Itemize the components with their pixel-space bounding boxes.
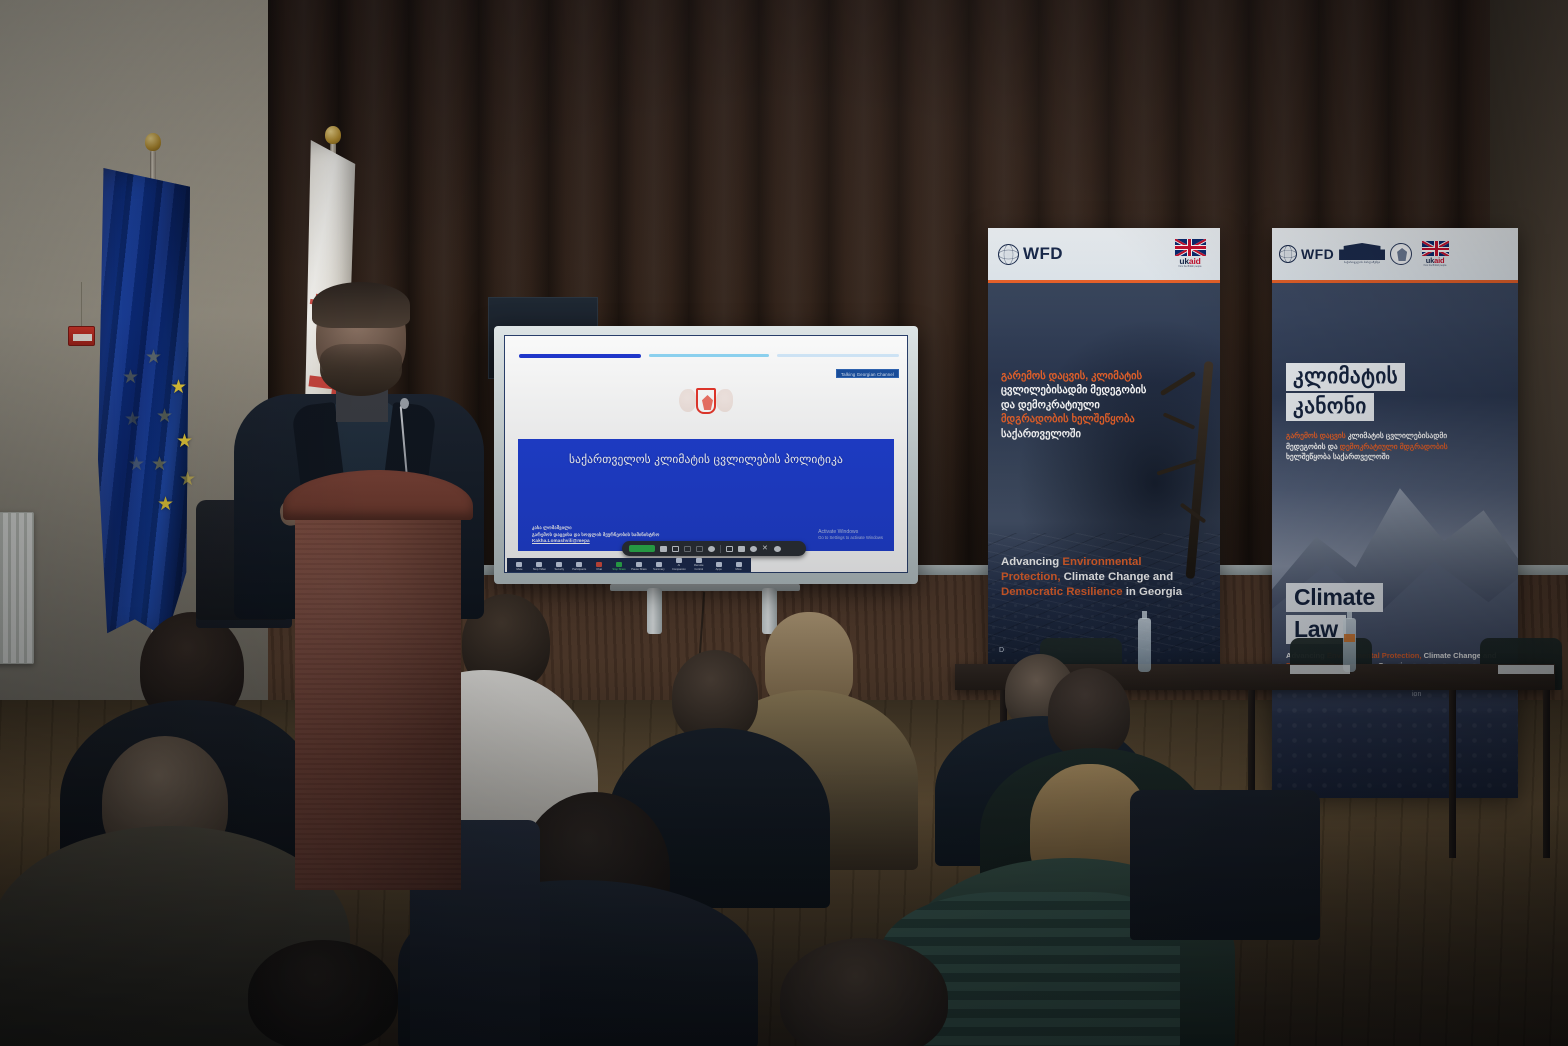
zoom-annotation-toolbar[interactable]: ✕ xyxy=(622,541,806,556)
close-icon[interactable]: ✕ xyxy=(762,546,769,552)
annotation-active-indicator xyxy=(629,545,655,552)
eu-star-icon: ★ xyxy=(151,455,168,474)
parliament-logo-caption: საქართველოს პარლამენტი xyxy=(1339,261,1385,265)
name-card xyxy=(1290,665,1350,674)
water-bottle[interactable] xyxy=(1343,618,1356,672)
wfd-globe-icon xyxy=(998,244,1019,265)
union-jack-icon xyxy=(1175,239,1206,256)
tree-branch xyxy=(1156,458,1199,475)
rollup-banner-right: კლიმატის კანონი გარემოს დაცვის კლიმატის … xyxy=(1272,228,1518,798)
podium-lectern-top xyxy=(283,470,473,520)
ukaid-tagline: from the British people xyxy=(1417,265,1453,268)
slide-title-panel: საქართველოს კლიმატის ცვლილების პოლიტიკა … xyxy=(518,439,894,551)
meeting-name-chip[interactable]: Talking Georgian Channel xyxy=(836,369,899,378)
zoom-control-participants[interactable]: Participants xyxy=(571,562,588,571)
zoom-meeting-toolbar[interactable]: Mute Stop Video Security Participants Ch… xyxy=(507,558,751,572)
banner-left-footer: D xyxy=(999,647,1004,654)
eu-star-icon: ★ xyxy=(176,432,193,451)
microphone-icon[interactable] xyxy=(400,398,409,409)
eu-star-icon: ★ xyxy=(122,368,139,387)
ukaid-wordmark: ukaid xyxy=(1417,256,1453,265)
eu-star-icon: ★ xyxy=(156,407,173,426)
government-seal-icon xyxy=(1390,243,1412,265)
eu-star-icon: ★ xyxy=(124,410,141,429)
zoom-control-remote-control[interactable]: Remote Control xyxy=(690,558,707,571)
wfd-globe-icon xyxy=(1279,245,1297,263)
progress-bar-active xyxy=(519,354,641,358)
alarm-wire xyxy=(81,282,82,328)
wfd-wordmark: WFD xyxy=(1301,246,1334,262)
more-icon[interactable] xyxy=(774,546,781,552)
government-seal-logo xyxy=(1390,243,1412,265)
coat-lion-right-icon xyxy=(716,389,733,412)
audience-head xyxy=(1048,668,1130,758)
presenter-name: კახა ლომაშვილი xyxy=(532,525,659,532)
ukaid-wordmark: ukaid xyxy=(1170,256,1210,266)
eu-flag-folds xyxy=(98,168,190,638)
banner-left-logo-bar: WFD ukaid from the British people xyxy=(988,228,1220,280)
ukaid-logo: ukaid from the British people xyxy=(1417,241,1453,268)
eu-flag-finial xyxy=(145,133,161,151)
parliament-of-georgia-logo: საქართველოს პარლამენტი xyxy=(1339,243,1385,265)
sub-ka-5: ხელშეწყობა საქართველოში xyxy=(1286,452,1390,461)
progress-bar-next xyxy=(649,354,769,357)
banner-right-title-en-1: Climate xyxy=(1294,584,1375,610)
slide-progress-bars xyxy=(519,354,895,358)
presenter-beard xyxy=(320,344,402,396)
heading-line-5: საქართველოში xyxy=(1001,428,1081,440)
new-slide-icon[interactable] xyxy=(726,546,733,552)
ukaid-logo: ukaid from the British people xyxy=(1170,239,1210,269)
banner-right-footer: ion xyxy=(1412,691,1421,698)
subtitle-part-5: in Georgia xyxy=(1123,586,1183,598)
eu-star-icon: ★ xyxy=(157,495,174,514)
georgia-flag-finial xyxy=(325,126,341,144)
zoom-control-security[interactable]: Security xyxy=(551,562,568,571)
sub-ka-2: კლიმატის ცვლილებისადმი xyxy=(1348,431,1447,440)
eu-star-icon: ★ xyxy=(179,470,196,489)
undo-icon[interactable] xyxy=(684,546,691,552)
save-icon[interactable] xyxy=(738,546,745,552)
presenter-hair xyxy=(312,282,410,328)
zoom-control-summary[interactable]: Summary xyxy=(650,562,667,571)
banner-right-logo-bar: WFD საქართველოს პარლამენტი ukaid from th… xyxy=(1272,228,1518,280)
slide-title: საქართველოს კლიმატის ცვლილების პოლიტიკა xyxy=(518,453,894,466)
progress-bar-last xyxy=(777,354,899,357)
eu-star-icon: ★ xyxy=(170,378,187,397)
eu-star-icon: ★ xyxy=(128,455,145,474)
heading-line-2: ცვლილებისადმი მედეგობის xyxy=(1001,384,1146,396)
rollup-banner-left: გარემოს დაცვის, კლიმატის ცვლილებისადმი მ… xyxy=(988,228,1220,668)
sub-ka-1: გარემოს დაცვის xyxy=(1286,431,1348,440)
coat-shield-icon xyxy=(696,388,716,414)
draw-icon[interactable] xyxy=(672,546,679,552)
banner-left-heading-ka: გარემოს დაცვის, კლიმატის ცვლილებისადმი მ… xyxy=(1001,369,1210,441)
banner-left-accent-rule xyxy=(988,280,1220,283)
zoom-control-pause-share[interactable]: Pause Share xyxy=(631,562,648,571)
subtitle-part-4: Democratic Resilience xyxy=(1001,586,1123,598)
heading-line-3: და დემოკრატიული xyxy=(1001,399,1100,411)
union-jack-icon xyxy=(1422,241,1449,256)
water-bottle[interactable] xyxy=(1138,618,1151,672)
wall-radiator xyxy=(0,512,34,664)
zoom-control-stop-video[interactable]: Stop Video xyxy=(531,562,548,571)
audience-chair[interactable] xyxy=(1130,790,1320,940)
podium xyxy=(283,470,473,890)
toolbar-separator xyxy=(720,545,721,553)
zoom-control-mute[interactable]: Mute xyxy=(511,562,528,571)
presentation-display: Talking Georgian Channel საქართველოს კლი… xyxy=(494,326,918,584)
ukaid-tagline: from the British people xyxy=(1170,266,1210,269)
zoom-control-more[interactable]: More xyxy=(730,562,747,571)
watermark-line-2: Go to Settings to activate Windows xyxy=(818,535,883,541)
select-icon[interactable] xyxy=(660,546,667,552)
banner-left-subtitle-en: Advancing Environmental Protection, Clim… xyxy=(1001,555,1202,600)
banner-right-title-ka-1: კლიმატის xyxy=(1293,365,1398,388)
slide-screen[interactable]: Talking Georgian Channel საქართველოს კლი… xyxy=(504,335,908,573)
zoom-control-stop-share[interactable]: Stop Share xyxy=(611,562,628,571)
subtitle-part-1: Advancing xyxy=(1001,556,1062,568)
podium-texture xyxy=(295,514,461,890)
name-card xyxy=(1498,665,1554,674)
wfd-logo: WFD xyxy=(998,244,1063,265)
banner-right-title-ka-2: კანონი xyxy=(1293,395,1367,418)
zoom-control-apps[interactable]: Apps xyxy=(710,562,727,571)
fire-alarm-icon[interactable] xyxy=(68,326,95,346)
windows-activation-watermark: Activate Windows Go to Settings to activ… xyxy=(818,529,883,541)
parliament-building-icon xyxy=(1339,243,1385,260)
heading-line-1: გარემოს დაცვის, კლიმატის xyxy=(1001,370,1142,382)
table-leg xyxy=(1449,690,1456,858)
coat-lion-left-icon xyxy=(679,389,696,412)
heading-line-4: მდგრადობის ხელშეწყობა xyxy=(1001,413,1135,425)
audience-head xyxy=(248,940,398,1046)
redo-icon[interactable] xyxy=(696,546,703,552)
display-stand-leg xyxy=(647,588,662,634)
zoom-control-ai-companion[interactable]: AI Companion xyxy=(670,558,687,571)
wfd-wordmark: WFD xyxy=(1023,244,1063,264)
georgia-coat-of-arms-icon xyxy=(677,384,735,430)
audience-head xyxy=(780,938,948,1046)
banner-right-subtitle-ka: გარემოს დაცვის კლიმატის ცვლილებისადმი მე… xyxy=(1286,431,1506,463)
subtitle-part-3: Climate Change and xyxy=(1061,571,1174,583)
eu-star-icon: ★ xyxy=(145,348,162,367)
banner-right-title-ka-box-1: კლიმატის xyxy=(1286,363,1405,391)
zoom-control-chat[interactable]: Chat xyxy=(591,562,608,571)
banner-right-accent-rule xyxy=(1272,280,1518,283)
table-leg xyxy=(1543,690,1550,858)
sub-ka-3: მედეგობის და xyxy=(1286,442,1340,451)
spotlight-icon[interactable] xyxy=(708,546,715,552)
presenter-org: გარემოს დაცვისა და სოფლის მეურნეობის სამ… xyxy=(532,532,659,539)
wfd-logo: WFD xyxy=(1279,245,1334,263)
banner-right-body: კლიმატის კანონი გარემოს დაცვის კლიმატის … xyxy=(1272,283,1518,798)
sub-ka-4: დემოკრატიული მდგრადობის xyxy=(1340,442,1448,451)
banner-right-title-en-box-1: Climate xyxy=(1286,583,1383,612)
settings-icon[interactable] xyxy=(750,546,757,552)
banner-right-title-ka-box-2: კანონი xyxy=(1286,393,1374,421)
banner-left-body: გარემოს დაცვის, კლიმატის ცვლილებისადმი მ… xyxy=(988,283,1220,668)
conference-photo-scene: ★ ★ ★ ★ ★ ★ ★ ★ ★ ★ Talking Georgian Cha… xyxy=(0,0,1568,1046)
